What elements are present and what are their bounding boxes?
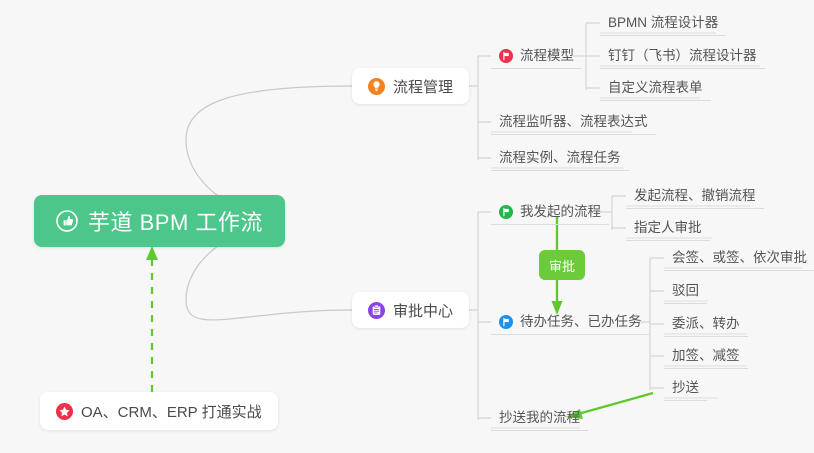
thumbs-up-icon <box>56 210 78 232</box>
mindmap-canvas: 芋道 BPM 工作流 流程管理 流程模型 BPMN 流程设计器 钉钉（飞书）流程 <box>0 0 814 453</box>
flag-blue-icon <box>499 315 513 329</box>
branch-approval-center[interactable]: 审批中心 <box>352 292 469 328</box>
node-countersign[interactable]: 会签、或签、依次审批 <box>664 245 814 271</box>
node-label: 加签、减签 <box>672 349 740 363</box>
node-my-initiated-process[interactable]: 我发起的流程 <box>491 199 609 225</box>
node-label: 委派、转办 <box>672 317 740 331</box>
star-icon <box>56 403 73 420</box>
flag-red-icon <box>499 49 513 63</box>
node-process-model[interactable]: 流程模型 <box>491 43 582 69</box>
node-bpmn-designer[interactable]: BPMN 流程设计器 <box>600 10 726 36</box>
annotation-label: 审批 <box>549 256 575 275</box>
clipboard-icon <box>368 302 385 319</box>
lightbulb-icon <box>368 78 385 95</box>
practice-link-arrow <box>146 246 158 392</box>
footer-card-label: OA、CRM、ERP 打通实战 <box>81 401 262 422</box>
node-label: 驳回 <box>672 284 699 298</box>
node-reject[interactable]: 驳回 <box>664 278 707 304</box>
root-node[interactable]: 芋道 BPM 工作流 <box>34 195 285 247</box>
node-label: 我发起的流程 <box>520 205 601 219</box>
footer-card-oa-crm-erp[interactable]: OA、CRM、ERP 打通实战 <box>40 392 278 430</box>
node-label: 流程监听器、流程表达式 <box>499 115 648 129</box>
node-cc-to-me-process[interactable]: 抄送我的流程 <box>491 405 588 431</box>
node-label: 流程模型 <box>520 49 574 63</box>
annotation-approval: 审批 <box>539 250 585 280</box>
node-cc[interactable]: 抄送 <box>664 375 707 401</box>
node-todo-done-task[interactable]: 待办任务、已办任务 <box>491 309 650 335</box>
node-process-instance-task[interactable]: 流程实例、流程任务 <box>491 145 629 171</box>
node-label: 流程实例、流程任务 <box>499 151 621 165</box>
node-label: 待办任务、已办任务 <box>520 315 642 329</box>
node-process-listener-expression[interactable]: 流程监听器、流程表达式 <box>491 109 656 135</box>
node-delegate-transfer[interactable]: 委派、转办 <box>664 311 748 337</box>
branch-label: 流程管理 <box>393 76 453 97</box>
node-label: BPMN 流程设计器 <box>608 16 718 30</box>
node-assignee-approval[interactable]: 指定人审批 <box>626 215 710 241</box>
node-dingtalk-feishu-designer[interactable]: 钉钉（飞书）流程设计器 <box>600 43 765 69</box>
node-label: 发起流程、撤销流程 <box>634 189 756 203</box>
node-label: 自定义流程表单 <box>608 81 703 95</box>
node-label: 抄送我的流程 <box>499 411 580 425</box>
node-add-remove-sign[interactable]: 加签、减签 <box>664 343 748 369</box>
branch-process-management[interactable]: 流程管理 <box>352 68 469 104</box>
node-label: 钉钉（飞书）流程设计器 <box>608 49 757 63</box>
node-label: 指定人审批 <box>634 221 702 235</box>
flag-green-icon <box>499 205 513 219</box>
node-custom-process-form[interactable]: 自定义流程表单 <box>600 75 711 101</box>
node-label: 抄送 <box>672 381 699 395</box>
root-label: 芋道 BPM 工作流 <box>88 205 263 237</box>
branch-label: 审批中心 <box>393 300 453 321</box>
node-start-cancel-process[interactable]: 发起流程、撤销流程 <box>626 183 764 209</box>
node-label: 会签、或签、依次审批 <box>672 251 807 265</box>
